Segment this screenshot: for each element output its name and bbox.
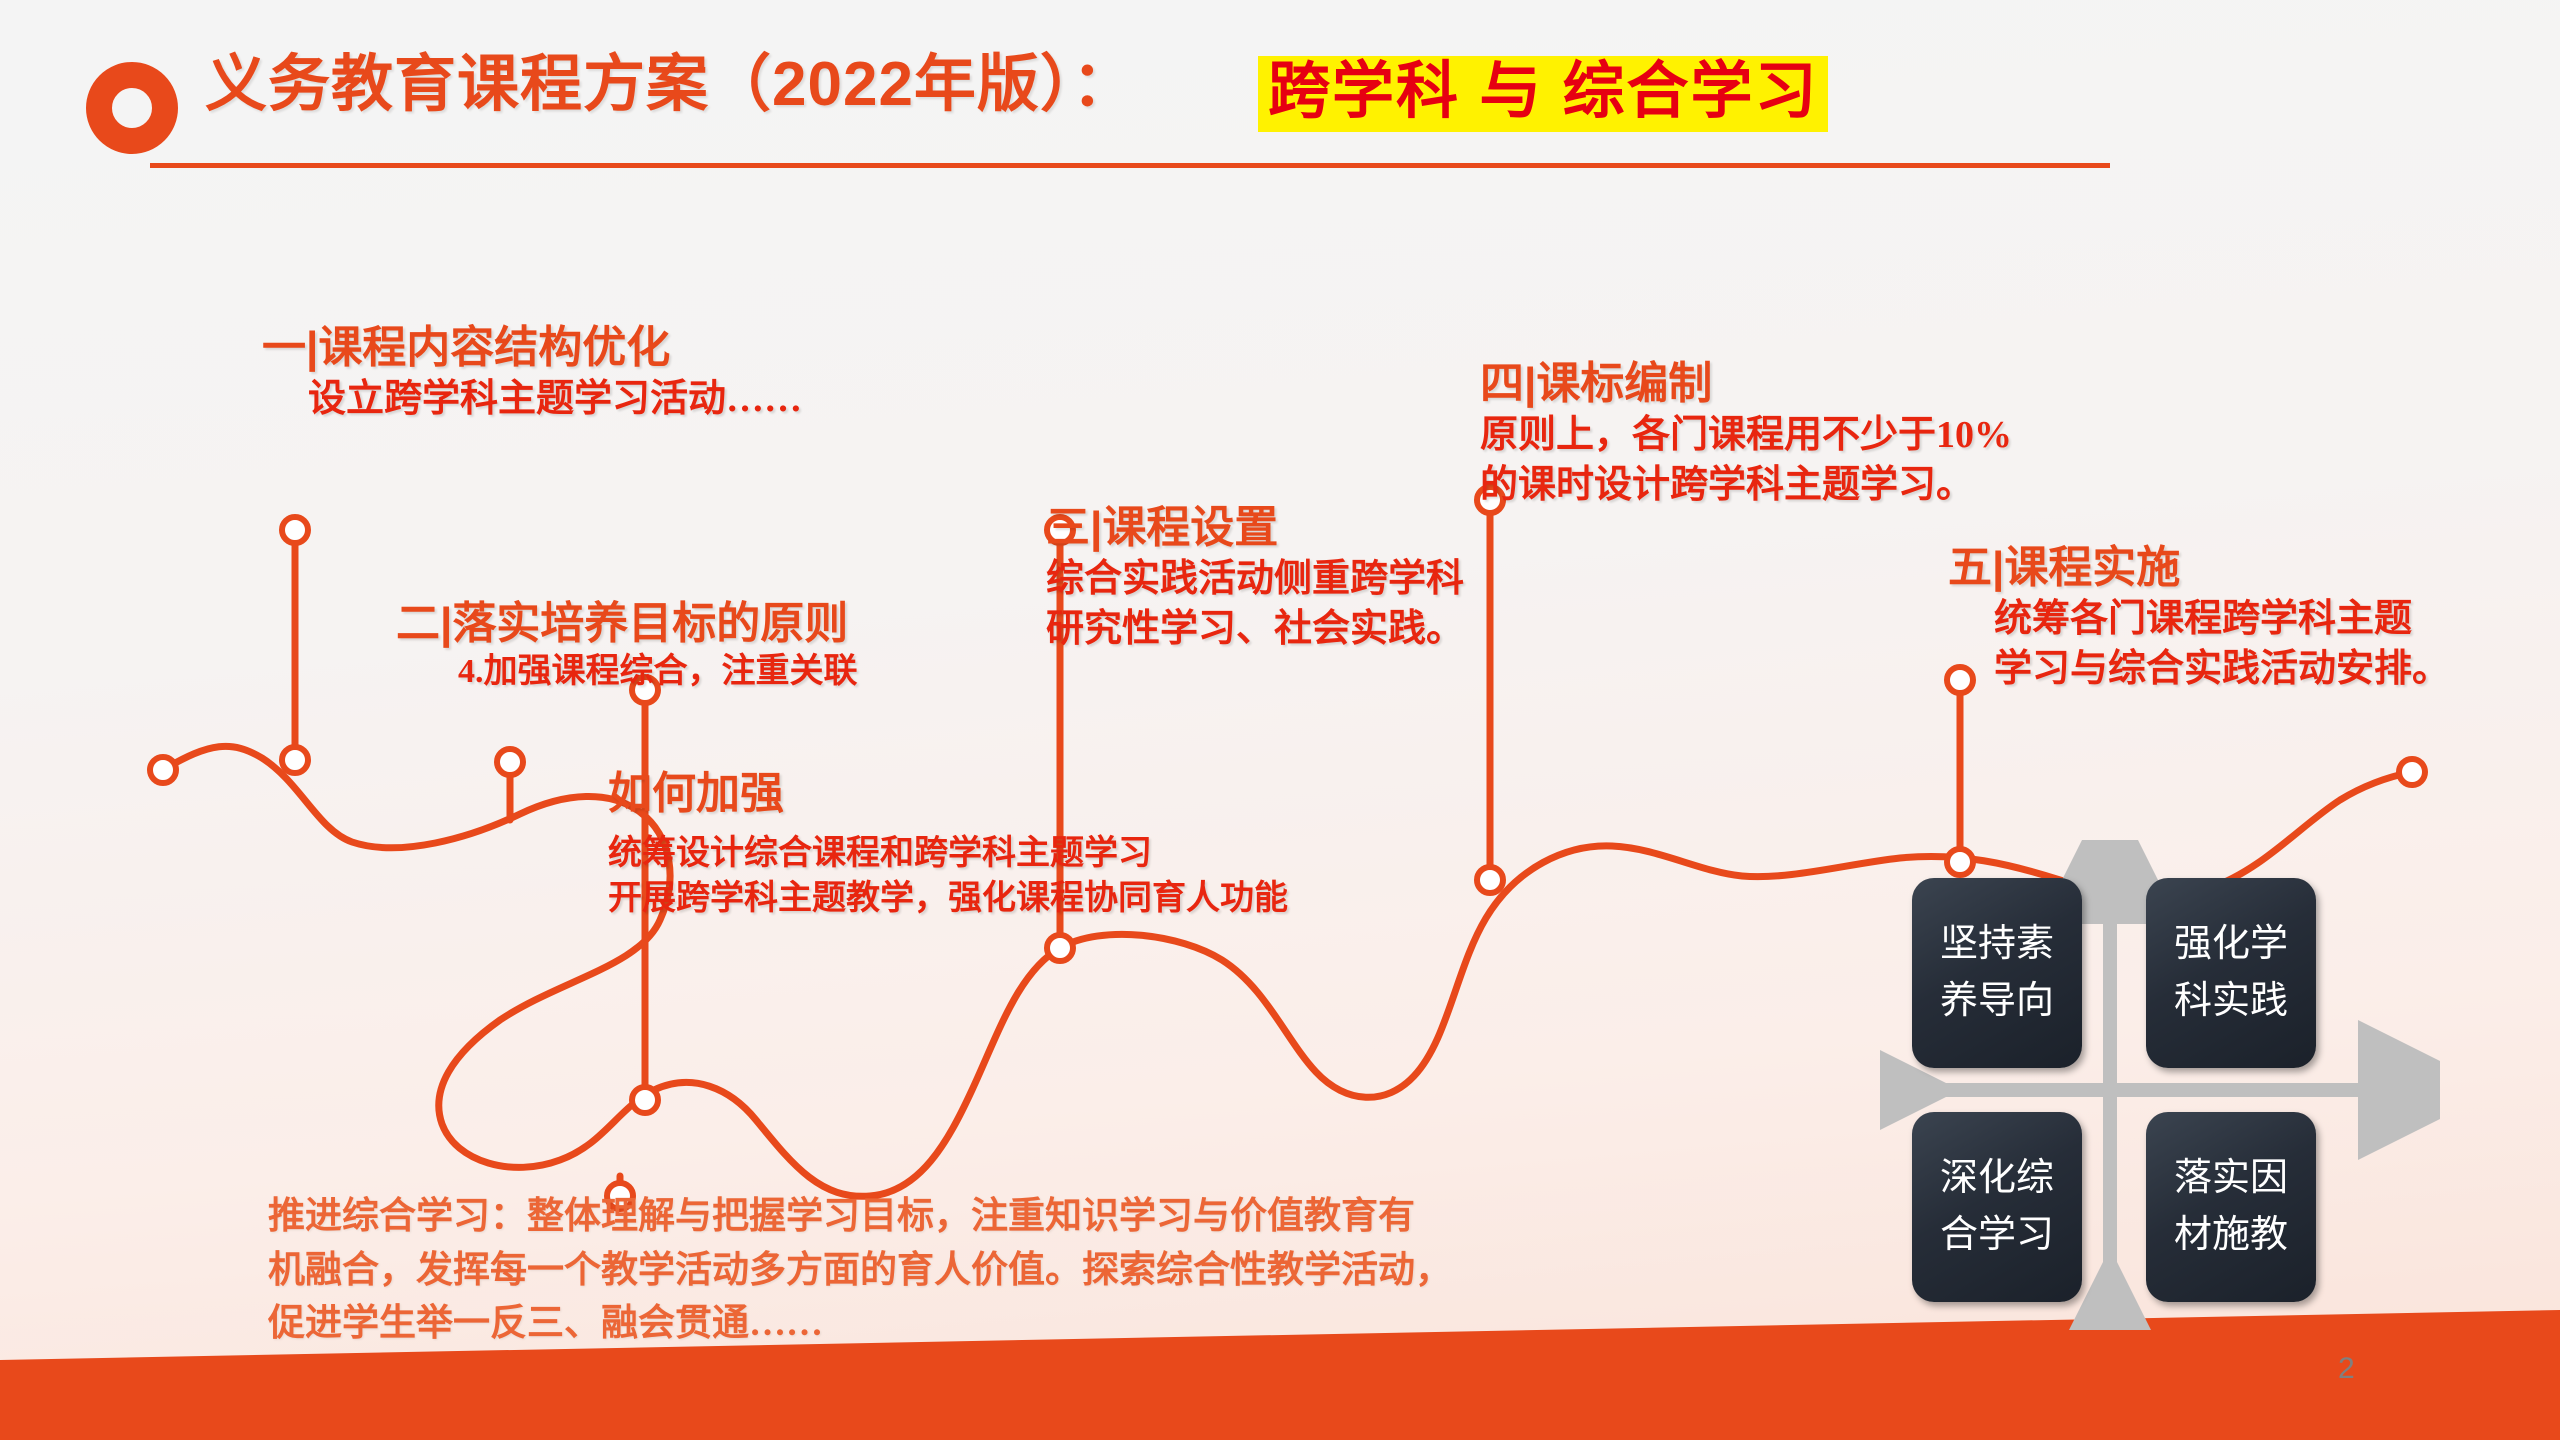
item-line-3-2: 研究性学习、社会实践。	[1046, 604, 1464, 654]
summary-paragraph: 推进综合学习：整体理解与把握学习目标，注重知识学习与价值教育有 机融合，发挥每一…	[268, 1190, 1808, 1351]
item-heading-3: 三|课程设置	[1046, 502, 1464, 554]
item-block-3: 三|课程设置 综合实践活动侧重跨学科 研究性学习、社会实践。	[1046, 502, 1464, 654]
path-node	[1477, 867, 1503, 893]
item-title-1: 课程内容结构优化	[318, 323, 670, 372]
item-block-1: 一|课程内容结构优化 设立跨学科主题学习活动……	[262, 322, 802, 424]
item-number-4: 四	[1480, 359, 1524, 408]
item-heading-2: 二|落实培养目标的原则	[396, 598, 858, 650]
item-line-5-1: 统筹各门课程跨学科主题	[1948, 594, 2450, 644]
item-title-5: 课程实施	[2004, 543, 2180, 592]
quadrant-box-3-line2: 合学习	[1940, 1207, 2054, 1264]
quadrant-box-4-line1: 落实因	[2174, 1150, 2288, 1207]
item-separator-4: |	[1524, 359, 1536, 408]
howto-line-1: 统筹设计综合课程和跨学科主题学习	[608, 832, 1288, 877]
item-separator-3: |	[1090, 503, 1102, 552]
item-line-4-1: 原则上，各门课程用不少于10%	[1480, 410, 2012, 460]
item-line-3-1: 综合实践活动侧重跨学科	[1046, 554, 1464, 604]
path-node	[632, 1087, 658, 1113]
quadrant-box-4[interactable]: 落实因 材施教	[2146, 1112, 2316, 1302]
quadrant-box-1[interactable]: 坚持素 养导向	[1912, 878, 2082, 1068]
item-number-2: 二	[396, 599, 440, 648]
howto-line-2: 开展跨学科主题教学，强化课程协同育人功能	[608, 877, 1288, 922]
quadrant-box-3-line1: 深化综	[1940, 1150, 2054, 1207]
quadrant-box-1-line2: 养导向	[1940, 973, 2054, 1030]
quadrant-box-1-line1: 坚持素	[1940, 916, 2054, 973]
item-heading-5: 五|课程实施	[1948, 542, 2450, 594]
path-node	[497, 749, 523, 775]
slide-canvas: 义务教育课程方案（2022年版）： 跨学科 与 综合学习	[0, 0, 2560, 1440]
item-line-5-2: 学习与综合实践活动安排。	[1948, 644, 2450, 694]
item-number-1: 一	[262, 323, 306, 372]
item-title-2: 落实培养目标的原则	[452, 599, 848, 648]
item-separator-5: |	[1992, 543, 2004, 592]
item-block-5: 五|课程实施 统筹各门课程跨学科主题 学习与综合实践活动安排。	[1948, 542, 2450, 694]
item-heading-1: 一|课程内容结构优化	[262, 322, 802, 374]
quadrant-diagram: 坚持素 养导向 强化学 科实践 深化综 合学习 落实因 材施教	[1880, 840, 2440, 1330]
item-line-1-1: 设立跨学科主题学习活动……	[262, 374, 802, 424]
path-node	[282, 747, 308, 773]
quadrant-box-4-line2: 材施教	[2174, 1207, 2288, 1264]
path-node	[282, 517, 308, 543]
item-block-4: 四|课标编制 原则上，各门课程用不少于10% 的课时设计跨学科主题学习。	[1480, 358, 2012, 510]
item-line-2-1: 4.加强课程综合，注重关联	[396, 650, 858, 695]
item-line-4-2: 的课时设计跨学科主题学习。	[1480, 460, 2012, 510]
page-number: 2	[2338, 1352, 2355, 1386]
path-node	[2399, 759, 2425, 785]
item-number-5: 五	[1948, 543, 1992, 592]
path-node	[1047, 935, 1073, 961]
item-title-4: 课标编制	[1536, 359, 1712, 408]
quadrant-box-2-line1: 强化学	[2174, 916, 2288, 973]
item-separator-1: |	[306, 323, 318, 372]
item-block-2: 二|落实培养目标的原则 4.加强课程综合，注重关联	[396, 598, 858, 695]
howto-heading: 如何加强	[608, 768, 1288, 820]
summary-line-1: 推进综合学习：整体理解与把握学习目标，注重知识学习与价值教育有	[268, 1190, 1808, 1244]
item-heading-4: 四|课标编制	[1480, 358, 2012, 410]
quadrant-box-2[interactable]: 强化学 科实践	[2146, 878, 2316, 1068]
howto-block: 如何加强 统筹设计综合课程和跨学科主题学习 开展跨学科主题教学，强化课程协同育人…	[608, 768, 1288, 922]
quadrant-box-3[interactable]: 深化综 合学习	[1912, 1112, 2082, 1302]
summary-line-3: 促进学生举一反三、融会贯通……	[268, 1297, 1808, 1351]
item-title-3: 课程设置	[1102, 503, 1278, 552]
quadrant-box-2-line2: 科实践	[2174, 973, 2288, 1030]
path-node	[150, 757, 176, 783]
item-separator-2: |	[440, 599, 452, 648]
summary-line-2: 机融合，发挥每一个教学活动多方面的育人价值。探索综合性教学活动，	[268, 1244, 1808, 1298]
item-number-3: 三	[1046, 503, 1090, 552]
